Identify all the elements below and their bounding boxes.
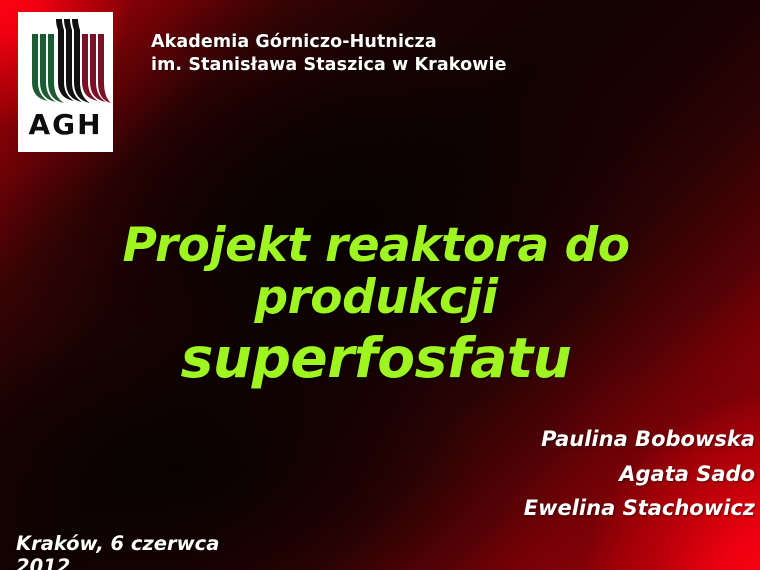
presentation-title-line-2: produkcji	[26, 269, 726, 326]
university-name: Akademia Górniczo-Hutnicza im. Stanisław…	[151, 31, 621, 78]
place-and-date-line-2: 2012	[16, 555, 266, 570]
university-name-line-1: Akademia Górniczo-Hutnicza	[151, 31, 621, 54]
agh-logo-bars-icon	[18, 12, 113, 115]
agh-logo-maroon-bars	[82, 34, 111, 103]
presentation-title-line-1: Projekt reaktora do	[26, 222, 726, 269]
author-name: Paulina Bobowska	[485, 429, 755, 451]
place-and-date: Kraków, 6 czerwca 2012	[16, 532, 266, 570]
place-and-date-line-1: Kraków, 6 czerwca	[16, 532, 266, 555]
university-name-line-2: im. Stanisława Staszica w Krakowie	[151, 54, 621, 77]
presentation-title-line-3: superfosfatu	[26, 326, 726, 391]
author-name: Agata Sado	[485, 464, 755, 486]
author-name: Ewelina Stachowicz	[485, 498, 755, 520]
author-list: Paulina Bobowska Agata Sado Ewelina Stac…	[485, 429, 755, 520]
agh-logo: AGH	[18, 12, 113, 152]
title-slide: AGH Akademia Górniczo-Hutnicza im. Stani…	[0, 0, 760, 570]
presentation-title: Projekt reaktora do produkcji superfosfa…	[26, 222, 726, 391]
agh-logo-acronym: AGH	[18, 111, 113, 139]
